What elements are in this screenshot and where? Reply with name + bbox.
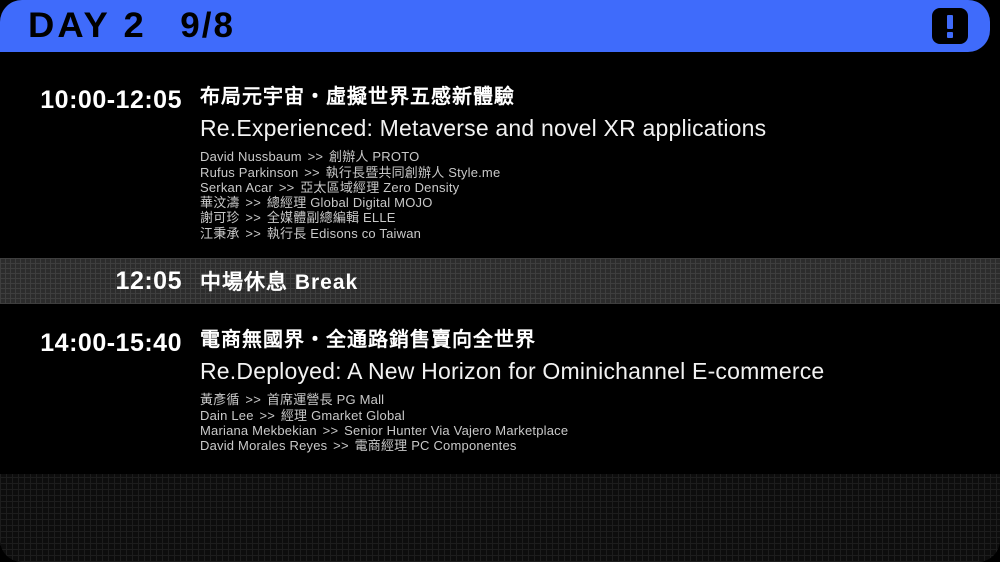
session-body: 布局元宇宙・虛擬世界五感新體驗 Re.Experienced: Metavers… <box>200 86 1000 241</box>
speaker-list: David Nussbaum >> 創辦人 PROTO Rufus Parkin… <box>200 149 1000 240</box>
speaker-item: David Morales Reyes >> 電商經理 PC Component… <box>200 438 1000 453</box>
speaker-separator: >> <box>243 195 263 210</box>
speaker-role: 經理 Gmarket Global <box>281 408 405 423</box>
speaker-name: 江秉承 <box>200 226 240 241</box>
session-title-en: Re.Experienced: Metaverse and novel XR a… <box>200 114 1000 144</box>
speaker-item: 江秉承 >> 執行長 Edisons co Taiwan <box>200 226 1000 241</box>
speaker-name: Serkan Acar <box>200 180 273 195</box>
speaker-name: Mariana Mekbekian <box>200 423 317 438</box>
speaker-item: David Nussbaum >> 創辦人 PROTO <box>200 149 1000 164</box>
speaker-separator: >> <box>331 438 351 453</box>
speaker-role: 亞太區域經理 Zero Density <box>300 180 459 195</box>
speaker-role: 執行長暨共同創辦人 Style.me <box>326 165 501 180</box>
exclamation-dot <box>947 32 953 38</box>
header-titles: DAY 2 9/8 <box>28 6 235 46</box>
speaker-list: 黃彥循 >> 首席運營長 PG Mall Dain Lee >> 經理 Gmar… <box>200 392 1000 453</box>
speaker-separator: >> <box>257 408 277 423</box>
break-time: 12:05 <box>0 267 200 296</box>
speaker-name: 黃彥循 <box>200 392 240 407</box>
session-row[interactable]: 14:00-15:40 電商無國界・全通路銷售賣向全世界 Re.Deployed… <box>0 329 1000 453</box>
speaker-item: Dain Lee >> 經理 Gmarket Global <box>200 408 1000 423</box>
break-row[interactable]: 12:05 中場休息 Break <box>0 258 1000 304</box>
speaker-item: 謝可珍 >> 全媒體副總編輯 ELLE <box>200 210 1000 225</box>
speaker-name: Rufus Parkinson <box>200 165 298 180</box>
speaker-separator: >> <box>302 165 322 180</box>
speaker-separator: >> <box>243 210 263 225</box>
speaker-item: Mariana Mekbekian >> Senior Hunter Via V… <box>200 423 1000 438</box>
speaker-separator: >> <box>277 180 297 195</box>
speaker-role: 電商經理 PC Componentes <box>355 438 517 453</box>
speaker-role: 創辦人 PROTO <box>329 149 419 164</box>
speaker-separator: >> <box>306 149 326 164</box>
day-header-bar: DAY 2 9/8 <box>0 0 990 52</box>
session-body: 電商無國界・全通路銷售賣向全世界 Re.Deployed: A New Hori… <box>200 329 1000 453</box>
exclamation-icon[interactable] <box>932 8 968 44</box>
speaker-item: Rufus Parkinson >> 執行長暨共同創辦人 Style.me <box>200 165 1000 180</box>
speaker-role: 首席運營長 PG Mall <box>267 392 384 407</box>
speaker-separator: >> <box>243 392 263 407</box>
session-row[interactable]: 10:00-12:05 布局元宇宙・虛擬世界五感新體驗 Re.Experienc… <box>0 86 1000 241</box>
agenda-slide: DAY 2 9/8 10:00-12:05 布局元宇宙・虛擬世界五感新體驗 Re… <box>0 0 1000 562</box>
session-time: 10:00-12:05 <box>0 86 200 241</box>
schedule-list: 10:00-12:05 布局元宇宙・虛擬世界五感新體驗 Re.Experienc… <box>0 52 1000 562</box>
speaker-name: 謝可珍 <box>200 210 240 225</box>
speaker-role: 執行長 Edisons co Taiwan <box>267 226 421 241</box>
speaker-name: David Morales Reyes <box>200 438 327 453</box>
break-title: 中場休息 Break <box>200 266 358 296</box>
speaker-separator: >> <box>321 423 341 438</box>
speaker-separator: >> <box>243 226 263 241</box>
speaker-name: David Nussbaum <box>200 149 302 164</box>
speaker-item: 華汶濤 >> 總經理 Global Digital MOJO <box>200 195 1000 210</box>
day-label: DAY 2 <box>28 6 147 46</box>
speaker-item: Serkan Acar >> 亞太區域經理 Zero Density <box>200 180 1000 195</box>
speaker-role: 總經理 Global Digital MOJO <box>267 195 433 210</box>
bottom-texture-panel <box>0 474 1000 562</box>
exclamation-stem <box>947 15 953 29</box>
date-label: 9/8 <box>180 6 235 46</box>
speaker-role: Senior Hunter Via Vajero Marketplace <box>344 423 568 438</box>
session-title-zh: 電商無國界・全通路銷售賣向全世界 <box>200 329 1000 353</box>
session-title-en: Re.Deployed: A New Horizon for Ominichan… <box>200 357 1000 387</box>
speaker-role: 全媒體副總編輯 ELLE <box>267 210 396 225</box>
session-time: 14:00-15:40 <box>0 329 200 453</box>
speaker-name: 華汶濤 <box>200 195 240 210</box>
speaker-name: Dain Lee <box>200 408 254 423</box>
session-title-zh: 布局元宇宙・虛擬世界五感新體驗 <box>200 86 1000 110</box>
speaker-item: 黃彥循 >> 首席運營長 PG Mall <box>200 392 1000 407</box>
